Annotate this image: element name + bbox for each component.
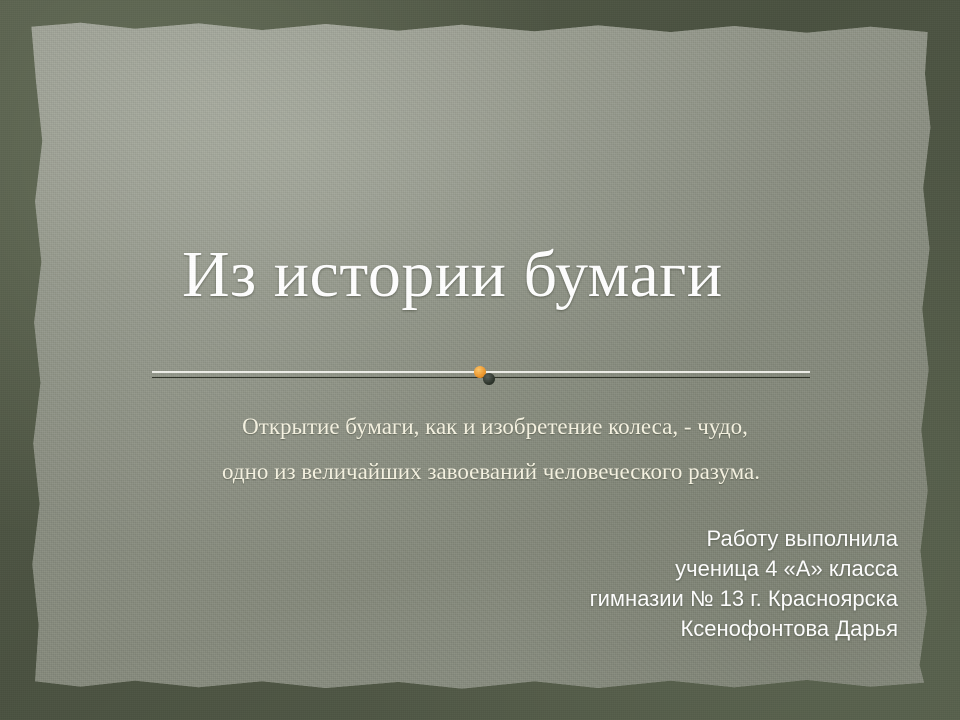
title-divider [152, 366, 810, 384]
presentation-slide: Из истории бумаги Открытие бумаги, как и… [0, 0, 960, 720]
divider-shadow-dot-icon [483, 373, 495, 385]
slide-content: Из истории бумаги Открытие бумаги, как и… [0, 0, 960, 720]
subtitle-line-2: одно из величайших завоеваний человеческ… [137, 449, 845, 494]
byline-line-3: гимназии № 13 г. Красноярска [590, 584, 898, 614]
author-block: Работу выполнила ученица 4 «А» класса ги… [590, 524, 898, 644]
slide-subtitle: Открытие бумаги, как и изобретение колес… [145, 404, 845, 494]
byline-line-1: Работу выполнила [590, 524, 898, 554]
slide-title: Из истории бумаги [182, 240, 882, 309]
byline-line-4: Ксенофонтова Дарья [590, 614, 898, 644]
subtitle-line-1: Открытие бумаги, как и изобретение колес… [145, 404, 845, 449]
byline-line-2: ученица 4 «А» класса [590, 554, 898, 584]
